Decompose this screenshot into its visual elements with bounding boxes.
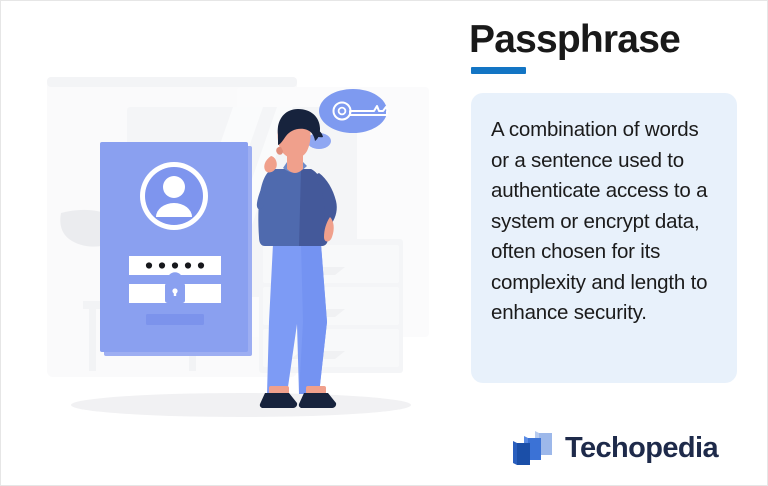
- illustration-canvas: [1, 1, 461, 486]
- background-panel-left-header: [47, 77, 297, 87]
- techopedia-logo[interactable]: Techopedia: [511, 425, 761, 473]
- password-dot: [172, 262, 178, 268]
- user-avatar-icon: [140, 162, 208, 230]
- password-dot: [146, 262, 152, 268]
- infographic-card: Passphrase A combination of words or a s…: [0, 0, 768, 486]
- avatar-head: [163, 176, 185, 198]
- padlock-keyhole-slot: [174, 291, 176, 296]
- definition-box: A combination of words or a sentence use…: [471, 93, 737, 383]
- logo-card-front: [517, 443, 530, 465]
- passphrase-illustration: [1, 1, 461, 486]
- content-panel: Passphrase A combination of words or a s…: [461, 1, 768, 486]
- password-dot: [159, 262, 165, 268]
- login-submit-bar: [146, 314, 204, 325]
- ankle-right: [306, 386, 326, 394]
- password-dot: [185, 262, 191, 268]
- page-title: Passphrase: [469, 19, 680, 62]
- title-accent-underline: [471, 67, 526, 74]
- definition-text: A combination of words or a sentence use…: [491, 115, 719, 329]
- techopedia-logo-text: Techopedia: [565, 434, 718, 465]
- password-field: [129, 256, 221, 275]
- desk-leg-left: [89, 309, 96, 371]
- login-card: [100, 142, 252, 356]
- floor-shadow: [71, 393, 411, 417]
- techopedia-logo-mark-icon: [511, 429, 555, 469]
- ankle-left: [269, 386, 289, 394]
- logo-card-front-edge: [513, 441, 517, 465]
- password-dot: [198, 262, 204, 268]
